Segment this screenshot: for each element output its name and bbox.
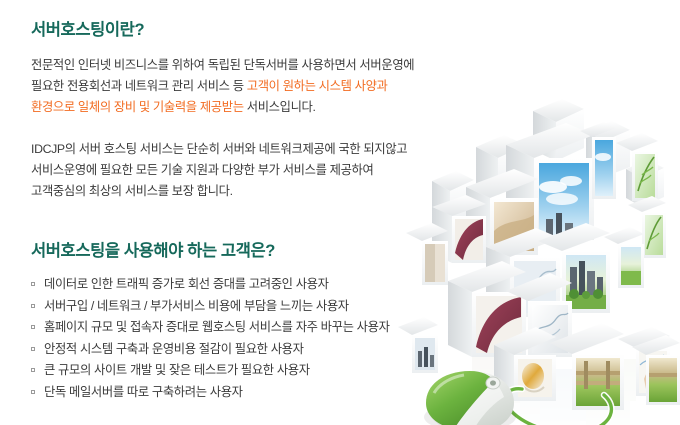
list-item: 서버구입 / 네트워크 / 부가서비스 비용에 부담을 느끼는 사용자: [31, 296, 461, 318]
square-bullet-icon: [31, 325, 35, 329]
list-item: 큰 규모의 사이트 개발 및 잦은 테스트가 필요한 사용자: [31, 360, 461, 382]
server-hosting-info-page: 서버호스팅이란? 전문적인 인터넷 비즈니스를 위하여 독립된 단독서버를 사용…: [0, 0, 680, 425]
section-heading-what-is-server-hosting: 서버호스팅이란?: [31, 21, 461, 39]
text-run: IDCJP의 서버 호스팅 서비스는 단순히 서버와 네트워크제공에 국한 되지…: [31, 142, 407, 156]
paragraph-line: IDCJP의 서버 호스팅 서비스는 단순히 서버와 네트워크제공에 국한 되지…: [31, 139, 461, 160]
square-bullet-icon: [31, 368, 35, 372]
text-run-highlight: 고객이 원하는 시스템 사양과: [247, 79, 388, 93]
text-run: 서비스운영에 필요한 모든 기술 지원과 다양한 부가 서비스를 제공하여: [31, 163, 373, 177]
text-run-highlight: 환경으로 일체의 장비 및 기술력을 제공받는: [31, 100, 244, 114]
section-heading-target-customers: 서버호스팅을 사용해야 하는 고객은?: [31, 242, 461, 260]
list-item: 홈페이지 규모 및 접속자 증대로 웹호스팅 서비스를 자주 바꾸는 사용자: [31, 317, 461, 339]
list-item-label: 데이터로 인한 트래픽 증가로 회선 증대를 고려중인 사용자: [44, 277, 329, 291]
target-customer-list: 데이터로 인한 트래픽 증가로 회선 증대를 고려중인 사용자 서버구입 / 네…: [31, 274, 461, 403]
service-description-paragraph: IDCJP의 서버 호스팅 서비스는 단순히 서버와 네트워크제공에 국한 되지…: [31, 139, 461, 202]
list-item-label: 안정적 시스템 구축과 운영비용 절감이 필요한 사용자: [44, 342, 304, 356]
square-bullet-icon: [31, 390, 35, 394]
paragraph-line: 고객중심의 최상의 서비스를 보장 합니다.: [31, 181, 461, 202]
list-item: 단독 메일서버를 따로 구축하려는 사용자: [31, 382, 461, 404]
list-item: 데이터로 인한 트래픽 증가로 회선 증대를 고려중인 사용자: [31, 274, 461, 296]
square-bullet-icon: [31, 282, 35, 286]
paragraph-line: 전문적인 인터넷 비즈니스를 위하여 독립된 단독서버를 사용하면서 서버운영에: [31, 55, 461, 76]
list-item-label: 단독 메일서버를 따로 구축하려는 사용자: [44, 385, 243, 399]
list-item-label: 서버구입 / 네트워크 / 부가서비스 비용에 부담을 느끼는 사용자: [44, 299, 349, 313]
text-run: 전문적인 인터넷 비즈니스를 위하여 독립된 단독서버를 사용하면서 서버운영에: [31, 58, 414, 72]
paragraph-line: 서비스운영에 필요한 모든 기술 지원과 다양한 부가 서비스를 제공하여: [31, 160, 461, 181]
paragraph-line: 필요한 전용회선과 네트워크 관리 서비스 등 고객이 원하는 시스템 사양과: [31, 76, 461, 97]
paragraph-line: 환경으로 일체의 장비 및 기술력을 제공받는 서비스입니다.: [31, 97, 461, 118]
list-item: 안정적 시스템 구축과 운영비용 절감이 필요한 사용자: [31, 339, 461, 361]
text-run: 필요한 전용회선과 네트워크 관리 서비스 등: [31, 79, 247, 93]
square-bullet-icon: [31, 304, 35, 308]
square-bullet-icon: [31, 347, 35, 351]
text-run: 고객중심의 최상의 서비스를 보장 합니다.: [31, 184, 233, 198]
text-content: 서버호스팅이란? 전문적인 인터넷 비즈니스를 위하여 독립된 단독서버를 사용…: [31, 0, 461, 403]
list-item-label: 홈페이지 규모 및 접속자 증대로 웹호스팅 서비스를 자주 바꾸는 사용자: [44, 320, 390, 334]
intro-paragraph: 전문적인 인터넷 비즈니스를 위하여 독립된 단독서버를 사용하면서 서버운영에…: [31, 55, 461, 118]
text-run: 서비스입니다.: [244, 100, 316, 114]
list-item-label: 큰 규모의 사이트 개발 및 잦은 테스트가 필요한 사용자: [44, 363, 310, 377]
